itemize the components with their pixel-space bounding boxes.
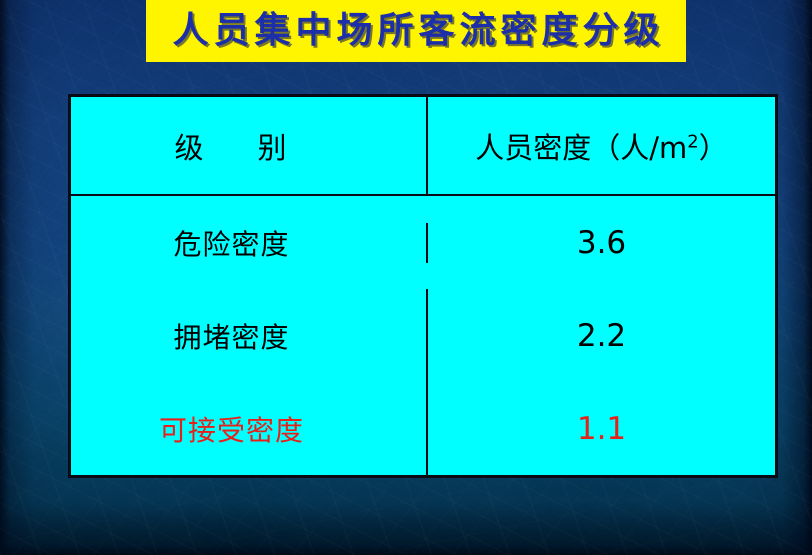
level-label-danger: 危险密度 [173, 223, 323, 263]
cell-level-congested: 拥堵密度 [71, 289, 428, 382]
density-grading-table: 级别 人员密度（人/m2） 危险密度 3.6 拥堵密度 2.2 [68, 94, 778, 478]
value-danger: 3.6 [577, 225, 626, 261]
table-row: 危险密度 3.6 [71, 196, 775, 289]
cell-value-danger: 3.6 [428, 225, 775, 261]
header-cell-density: 人员密度（人/m2） [428, 97, 775, 194]
page-title: 人员集中场所客流密度分级 [167, 13, 664, 49]
level-label-acceptable: 可接受密度 [159, 409, 338, 449]
header-density-superscript: 2 [687, 131, 698, 152]
header-level-char-2: 别 [258, 131, 289, 165]
cell-level-acceptable: 可接受密度 [71, 382, 428, 475]
header-density-label: 人员密度（人/m2） [475, 125, 727, 167]
header-density-suffix: ） [699, 131, 728, 165]
header-level-label: 级别 [174, 125, 322, 167]
title-banner: 人员集中场所客流密度分级 [146, 0, 686, 62]
header-density-prefix: 人员密度（人/m [475, 131, 687, 165]
table-body: 危险密度 3.6 拥堵密度 2.2 可接受密度 1.1 [71, 196, 775, 475]
table-row: 可接受密度 1.1 [71, 382, 775, 475]
cell-value-acceptable: 1.1 [428, 382, 775, 475]
table-row: 拥堵密度 2.2 [71, 289, 775, 382]
level-label-congested: 拥堵密度 [173, 316, 323, 356]
cell-level-danger: 危险密度 [71, 223, 428, 263]
header-cell-level: 级别 [71, 97, 428, 194]
value-acceptable: 1.1 [577, 411, 626, 447]
table-header-row: 级别 人员密度（人/m2） [71, 97, 775, 196]
slide-canvas: 人员集中场所客流密度分级 级别 人员密度（人/m2） 危险密度 3.6 [0, 0, 812, 555]
header-level-char-1: 级 [174, 131, 205, 165]
value-congested: 2.2 [577, 318, 626, 354]
cell-value-congested: 2.2 [428, 289, 775, 382]
